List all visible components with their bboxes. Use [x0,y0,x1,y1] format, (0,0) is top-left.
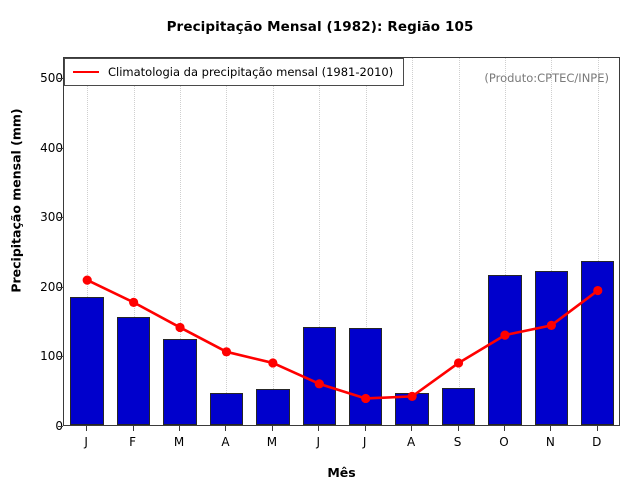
produto-note: (Produto:CPTEC/INPE) [484,71,609,85]
x-tick-mark [225,426,226,431]
bar [163,339,196,425]
bar [303,327,336,425]
x-tick-label: D [577,435,617,449]
y-axis-ticks: 0100200300400500 [16,57,63,426]
x-tick-mark [365,426,366,431]
x-tick-mark [179,426,180,431]
bar [442,388,475,425]
climatology-markers [83,276,603,404]
plot-area: (Produto:CPTEC/INPE) [63,57,620,426]
y-tick-label: 500 [21,71,63,85]
bar [70,297,103,425]
legend-line-swatch [73,71,99,73]
x-tick-label: S [438,435,478,449]
x-tick-mark [133,426,134,431]
bar [488,275,521,425]
x-tick-label: M [252,435,292,449]
y-tick-label: 0 [21,419,63,433]
x-tick-mark [458,426,459,431]
x-tick-label: N [530,435,570,449]
gridline [273,58,274,425]
bar [581,261,614,425]
x-tick-mark [272,426,273,431]
x-tick-label: F [113,435,153,449]
gridline [412,58,413,425]
x-tick-label: J [298,435,338,449]
x-tick-mark [86,426,87,431]
legend: Climatologia da precipitação mensal (198… [64,58,404,86]
gridline [459,58,460,425]
bar [395,393,428,425]
x-axis-label: Mês [63,465,620,480]
bar [256,389,289,425]
x-axis-ticks: JFMAMJJASOND [63,426,620,456]
x-tick-label: A [205,435,245,449]
x-tick-label: J [66,435,106,449]
bar [210,393,243,425]
y-tick-label: 300 [21,210,63,224]
y-tick-label: 400 [21,141,63,155]
x-tick-mark [550,426,551,431]
legend-label: Climatologia da precipitação mensal (198… [108,65,393,79]
y-tick-label: 200 [21,280,63,294]
x-tick-label: J [345,435,385,449]
chart-title: Precipitação Mensal (1982): Região 105 [0,19,640,35]
bar [117,317,150,425]
x-tick-label: M [159,435,199,449]
bar [349,328,382,425]
x-tick-mark [411,426,412,431]
gridline [226,58,227,425]
x-tick-label: A [391,435,431,449]
x-tick-label: O [484,435,524,449]
x-tick-mark [318,426,319,431]
chart-figure: Precipitação Mensal (1982): Região 105 P… [0,0,640,500]
y-tick-label: 100 [21,349,63,363]
x-tick-mark [504,426,505,431]
bar [535,271,568,425]
x-tick-mark [597,426,598,431]
